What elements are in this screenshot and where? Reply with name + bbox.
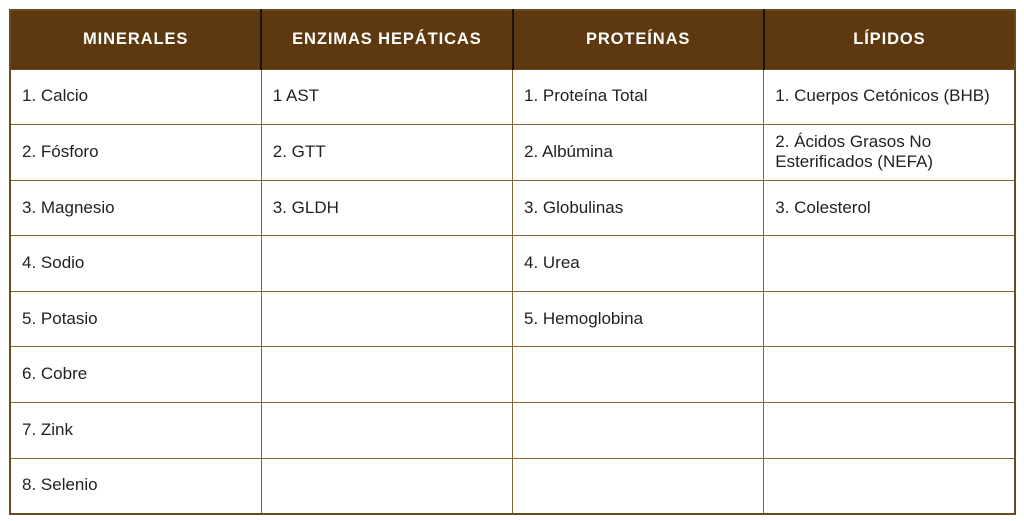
cell-lipidos-5-empty [764, 291, 1015, 347]
table-row: 3. Magnesio 3. GLDH 3. Globulinas 3. Col… [10, 180, 1015, 236]
cell-minerales-2: 2. Fósforo [10, 125, 261, 181]
table-body: 1. Calcio 1 AST 1. Proteína Total 1. Cue… [10, 69, 1015, 514]
cell-lipidos-2: 2. Ácidos Grasos No Esterificados (NEFA) [764, 125, 1015, 181]
table-row: 2. Fósforo 2. GTT 2. Albúmina 2. Ácidos … [10, 125, 1015, 181]
cell-minerales-6: 6. Cobre [10, 347, 261, 403]
cell-minerales-5: 5. Potasio [10, 291, 261, 347]
cell-minerales-4: 4. Sodio [10, 236, 261, 292]
cell-proteinas-2: 2. Albúmina [513, 125, 764, 181]
cell-enzimas-7-empty [261, 403, 512, 459]
cell-lipidos-1: 1. Cuerpos Cetónicos (BHB) [764, 69, 1015, 125]
cell-minerales-7: 7. Zink [10, 403, 261, 459]
table-row: 8. Selenio [10, 458, 1015, 514]
table-header-row: MINERALES ENZIMAS HEPÁTICAS PROTEÍNAS LÍ… [10, 10, 1015, 69]
cell-enzimas-4-empty [261, 236, 512, 292]
table-row: 1. Calcio 1 AST 1. Proteína Total 1. Cue… [10, 69, 1015, 125]
cell-lipidos-7-empty [764, 403, 1015, 459]
cell-lipidos-4-empty [764, 236, 1015, 292]
cell-lipidos-8-empty [764, 458, 1015, 514]
cell-lipidos-6-empty [764, 347, 1015, 403]
lab-analytes-table-container: MINERALES ENZIMAS HEPÁTICAS PROTEÍNAS LÍ… [9, 9, 1016, 513]
column-header-lipidos: LÍPIDOS [764, 10, 1015, 69]
table-row: 5. Potasio 5. Hemoglobina [10, 291, 1015, 347]
column-header-minerales: MINERALES [10, 10, 261, 69]
table-row: 6. Cobre [10, 347, 1015, 403]
column-header-enzimas-hepaticas: ENZIMAS HEPÁTICAS [261, 10, 512, 69]
cell-enzimas-2: 2. GTT [261, 125, 512, 181]
cell-proteinas-5: 5. Hemoglobina [513, 291, 764, 347]
cell-enzimas-3: 3. GLDH [261, 180, 512, 236]
cell-proteinas-4: 4. Urea [513, 236, 764, 292]
cell-minerales-1: 1. Calcio [10, 69, 261, 125]
cell-lipidos-3: 3. Colesterol [764, 180, 1015, 236]
cell-enzimas-1: 1 AST [261, 69, 512, 125]
cell-enzimas-5-empty [261, 291, 512, 347]
lab-analytes-table: MINERALES ENZIMAS HEPÁTICAS PROTEÍNAS LÍ… [9, 9, 1016, 515]
cell-proteinas-6-empty [513, 347, 764, 403]
cell-enzimas-6-empty [261, 347, 512, 403]
cell-enzimas-8-empty [261, 458, 512, 514]
cell-minerales-3: 3. Magnesio [10, 180, 261, 236]
table-header: MINERALES ENZIMAS HEPÁTICAS PROTEÍNAS LÍ… [10, 10, 1015, 69]
table-row: 7. Zink [10, 403, 1015, 459]
table-row: 4. Sodio 4. Urea [10, 236, 1015, 292]
cell-proteinas-7-empty [513, 403, 764, 459]
cell-proteinas-3: 3. Globulinas [513, 180, 764, 236]
column-header-proteinas: PROTEÍNAS [513, 10, 764, 69]
cell-proteinas-8-empty [513, 458, 764, 514]
cell-proteinas-1: 1. Proteína Total [513, 69, 764, 125]
cell-minerales-8: 8. Selenio [10, 458, 261, 514]
